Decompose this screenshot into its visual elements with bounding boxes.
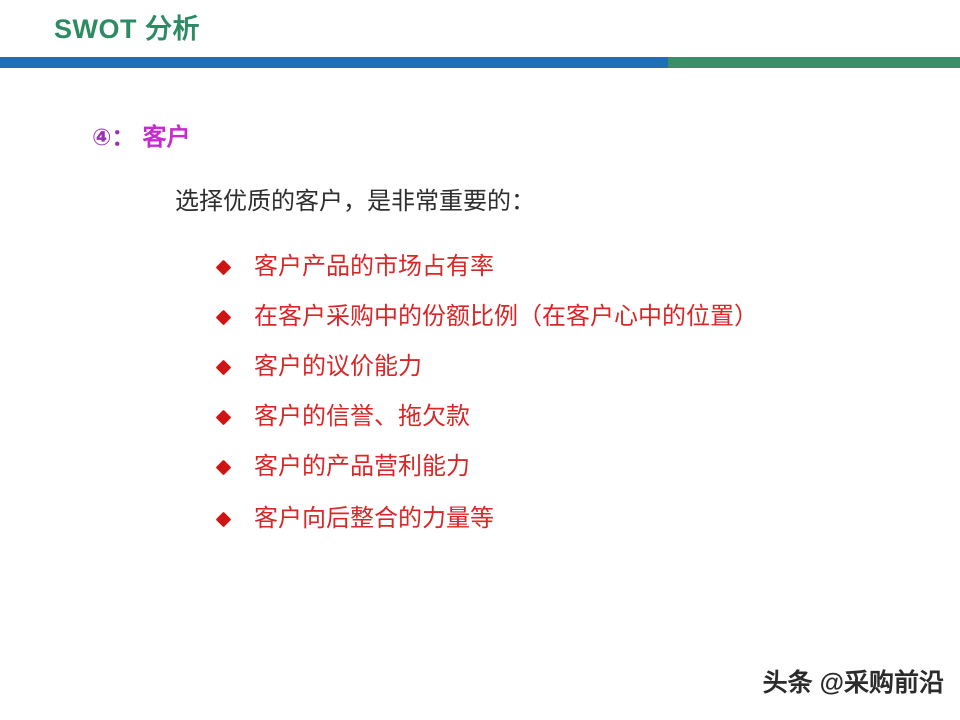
divider-segment-blue (0, 57, 668, 68)
header-divider-bar (0, 57, 960, 68)
slide-content: ④：客户 选择优质的客户，是非常重要的： 客户产品的市场占有率 在客户采购中的份… (0, 68, 960, 720)
list-item: 客户的信誉、拖欠款 (214, 392, 934, 442)
intro-text: 选择优质的客户，是非常重要的： (175, 186, 535, 218)
diamond-bullet-icon (216, 409, 232, 425)
section-heading: ④：客户 (92, 122, 190, 153)
section-heading-label: 客户 (142, 124, 190, 151)
list-item-label: 客户的议价能力 (254, 352, 422, 382)
list-item: 客户向后整合的力量等 (214, 492, 934, 546)
page-title: SWOT 分析 (54, 12, 200, 46)
section-colon: ： (111, 124, 134, 150)
list-item-label: 客户的信誉、拖欠款 (254, 402, 470, 432)
diamond-bullet-icon (216, 259, 232, 275)
list-item-label: 客户产品的市场占有率 (254, 252, 494, 282)
diamond-bullet-icon (216, 511, 232, 527)
slide-root: SWOT 分析 ④：客户 选择优质的客户，是非常重要的： 客户产品的市场占有率 … (0, 0, 960, 720)
list-item: 客户产品的市场占有率 (214, 242, 934, 292)
list-item-label: 在客户采购中的份额比例（在客户心中的位置） (254, 302, 758, 332)
slide-header: SWOT 分析 (0, 0, 960, 57)
list-item: 在客户采购中的份额比例（在客户心中的位置） (214, 292, 934, 342)
list-item-label: 客户的产品营利能力 (254, 452, 470, 482)
bullet-list: 客户产品的市场占有率 在客户采购中的份额比例（在客户心中的位置） 客户的议价能力… (214, 242, 934, 546)
list-item: 客户的议价能力 (214, 342, 934, 392)
diamond-bullet-icon (216, 359, 232, 375)
diamond-bullet-icon (216, 459, 232, 475)
watermark-label: 头条 @采购前沿 (763, 668, 944, 698)
list-item: 客户的产品营利能力 (214, 442, 934, 492)
divider-segment-green (668, 57, 960, 68)
diamond-bullet-icon (216, 309, 232, 325)
section-number: ④ (92, 124, 111, 150)
list-item-label: 客户向后整合的力量等 (254, 504, 494, 534)
